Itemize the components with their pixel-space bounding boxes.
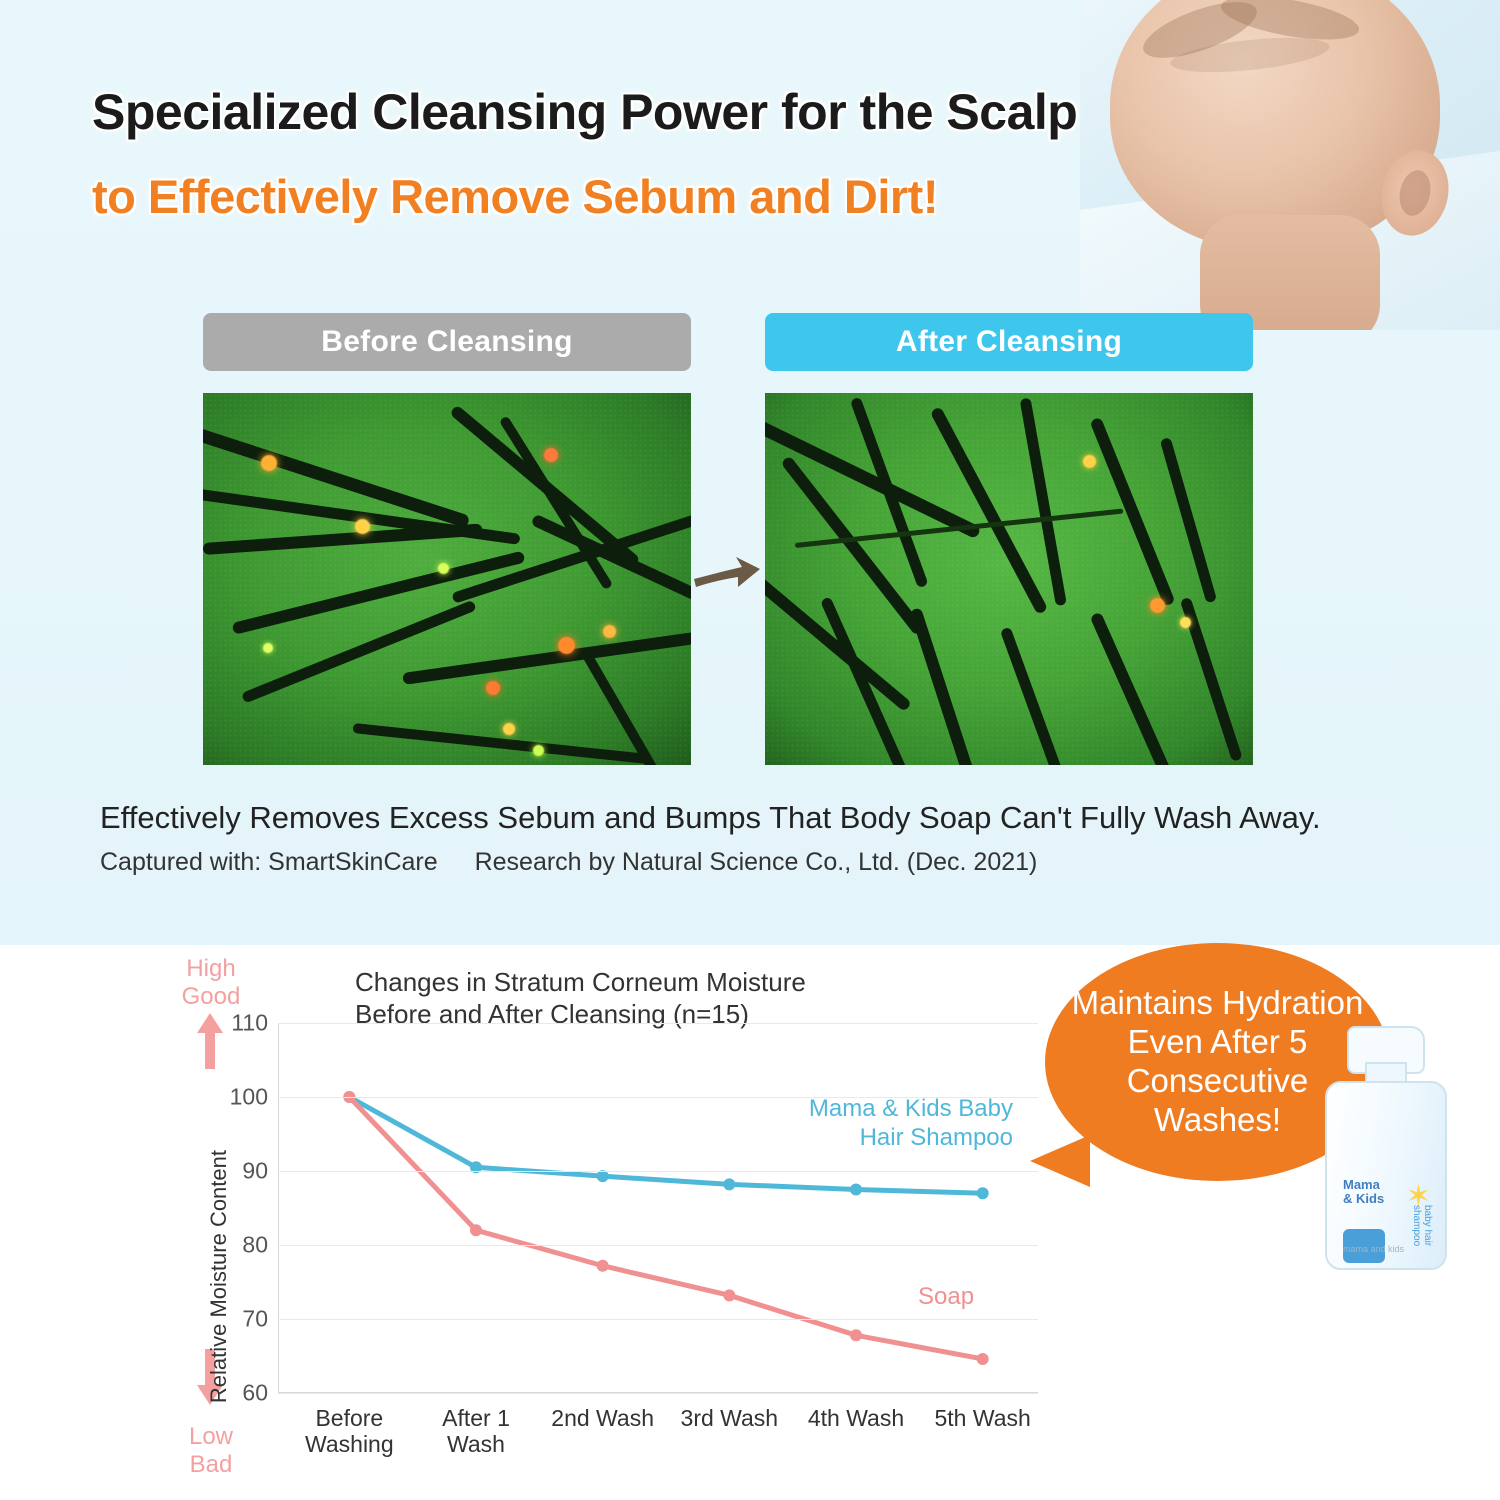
grid-line <box>278 1319 1038 1320</box>
y-tick-label: 90 <box>242 1158 268 1185</box>
axis-marker-high: High Good <box>168 955 254 1010</box>
grid-line <box>278 1023 1038 1024</box>
page-title: Specialized Cleansing Power for the Scal… <box>92 86 1077 139</box>
chart-title: Changes in Stratum Corneum Moisture Befo… <box>355 967 806 1030</box>
chart-data-point <box>850 1329 862 1341</box>
y-axis-label: Relative Moisture Content <box>205 1150 233 1403</box>
chart-data-point <box>470 1224 482 1236</box>
series-label-soap: Soap <box>918 1283 974 1312</box>
y-tick-label: 100 <box>230 1084 268 1111</box>
after-cleansing-image <box>765 393 1253 765</box>
chart-panel: Changes in Stratum Corneum Moisture Befo… <box>0 945 1500 1500</box>
x-tick-label: 5th Wash <box>913 1405 1053 1431</box>
before-cleansing-image <box>203 393 691 765</box>
baby-head-photo <box>1080 0 1500 330</box>
after-cleansing-label: After Cleansing <box>765 313 1253 371</box>
comparison-caption: Effectively Removes Excess Sebum and Bum… <box>100 800 1321 836</box>
x-tick-label: 2nd Wash <box>533 1405 673 1431</box>
chart-plot-area: 60708090100110BeforeWashingAfter 1Wash2n… <box>278 1023 1038 1393</box>
grid-line <box>278 1393 1038 1394</box>
arrow-right-icon <box>690 545 764 605</box>
chart-data-point <box>723 1178 735 1190</box>
x-tick-label: 4th Wash <box>786 1405 926 1431</box>
chart-data-point <box>723 1289 735 1301</box>
product-brand-label: Mama & Kids <box>1343 1178 1384 1205</box>
y-tick-label: 110 <box>231 1010 268 1037</box>
research-source-text: Research by Natural Science Co., Ltd. (D… <box>475 848 1038 876</box>
product-base-text: mama and kids <box>1343 1244 1404 1254</box>
chart-data-point <box>977 1353 989 1365</box>
axis-marker-bad-label: Bad <box>168 1451 254 1479</box>
y-tick-label: 80 <box>242 1232 268 1259</box>
chart-data-point <box>850 1184 862 1196</box>
series-label-shampoo-line2: Hair Shampoo <box>763 1124 1013 1153</box>
chart-title-line1: Changes in Stratum Corneum Moisture <box>355 967 806 999</box>
before-cleansing-label: Before Cleansing <box>203 313 691 371</box>
axis-marker-low-label: Low <box>168 1423 254 1451</box>
capture-device-text: Captured with: SmartSkinCare <box>100 848 438 876</box>
product-side-text: baby hair shampoo <box>1411 1205 1433 1268</box>
series-label-shampoo-line1: Mama & Kids Baby <box>763 1095 1013 1124</box>
y-tick-label: 60 <box>242 1380 268 1407</box>
axis-marker-high-label: High <box>168 955 254 983</box>
x-tick-label: BeforeWashing <box>279 1405 419 1458</box>
grid-line <box>278 1245 1038 1246</box>
x-tick-label: 3rd Wash <box>659 1405 799 1431</box>
chart-data-point <box>597 1260 609 1272</box>
marketing-infographic: Specialized Cleansing Power for the Scal… <box>0 0 1500 1500</box>
y-tick-label: 70 <box>242 1306 268 1333</box>
axis-marker-good-label: Good <box>168 983 254 1011</box>
comparison-source: Captured with: SmartSkinCare Research by… <box>100 848 1067 877</box>
series-label-shampoo: Mama & Kids Baby Hair Shampoo <box>763 1095 1013 1153</box>
top-panel: Specialized Cleansing Power for the Scal… <box>0 0 1500 945</box>
product-bottle-image: Mama & Kids ✶ baby hair shampoo mama and… <box>1325 1020 1443 1270</box>
arrow-up-icon <box>196 1013 224 1074</box>
chart-data-point <box>977 1187 989 1199</box>
x-tick-label: After 1Wash <box>406 1405 546 1458</box>
axis-marker-low: Low Bad <box>168 1423 254 1478</box>
page-subtitle: to Effectively Remove Sebum and Dirt! <box>92 172 938 221</box>
grid-line <box>278 1171 1038 1172</box>
